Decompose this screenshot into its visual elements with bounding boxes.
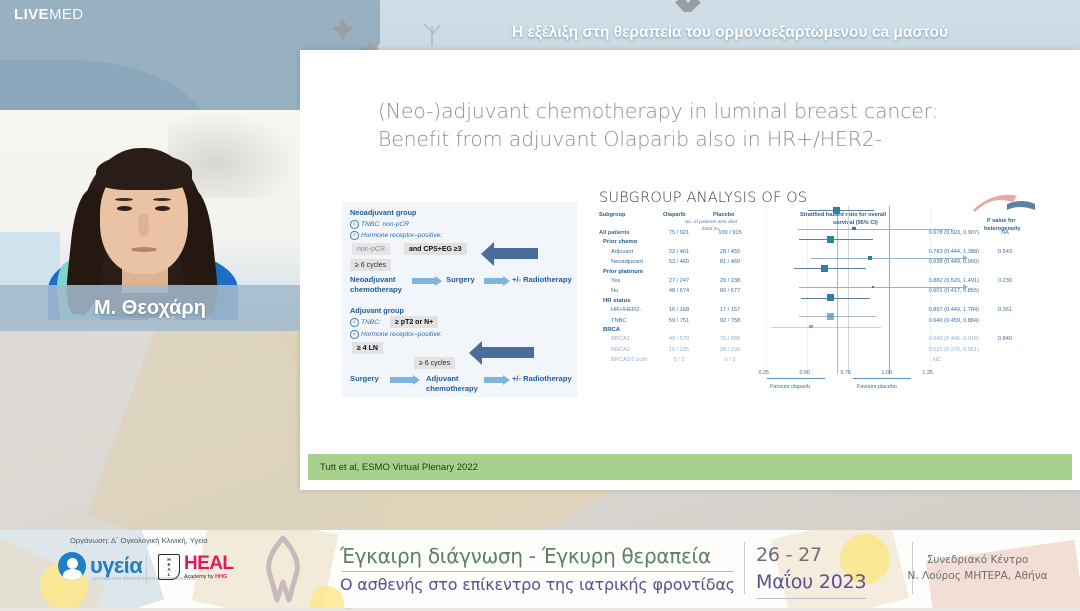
- effect-estimate-marker: [827, 294, 834, 301]
- subgroup-row-label: HR+/HER2-: [611, 307, 641, 313]
- neoadjuvant-flow-step-2: Surgery: [446, 275, 475, 285]
- placebo-count-cell: 29 / 238: [707, 278, 753, 284]
- favours-olaparib-arrow: [767, 378, 825, 379]
- logo-med-text: MED: [49, 6, 84, 23]
- emphasis-arrow-adjuvant: [482, 347, 534, 358]
- heal-tagline: Academy by HHG: [184, 574, 233, 580]
- olaparib-count-cell: 0 / 2: [657, 357, 701, 363]
- gridline: [766, 206, 767, 374]
- adjuvant-flow-step-2: Adjuvant chemotherapy: [426, 374, 478, 394]
- conference-date: 26 - 27 Μαΐου 2023: [756, 544, 866, 593]
- placebo-count-cell: 17 / 157: [707, 307, 753, 313]
- cross-circle-icon: x: [350, 231, 359, 240]
- speaker-eyebrow-right: [153, 198, 171, 201]
- placebo-count-cell: 28 / 238: [707, 347, 753, 353]
- p-value-cell: 0.361: [983, 307, 1027, 313]
- chip-4-ln: ≥ 4 LN: [352, 342, 383, 354]
- subgroup-category-label: Prior platinum: [603, 269, 643, 275]
- gridline: [889, 206, 890, 374]
- p-value-cell: 0.543: [983, 249, 1027, 255]
- cross-circle-icon: x: [350, 220, 359, 229]
- axis-tick-label: 0.75: [840, 370, 851, 376]
- heal-wordmark: HEAL: [184, 554, 233, 573]
- pooled-estimate-line: [837, 206, 838, 374]
- venue-line-2: Ν. Λούρος ΜΗΤΕΡΑ, Αθήνα: [880, 568, 1075, 584]
- subgroup-row-label: BRCA1: [611, 336, 630, 342]
- chip-pt2-or-n: ≥ pT2 or N+: [390, 316, 438, 328]
- column-header-pvalue-line-1: P value for: [987, 218, 1016, 224]
- column-header-placebo: Placebo: [713, 212, 734, 218]
- speaker-eye-left: [117, 206, 132, 211]
- column-note-line-1: No. of patients who died: [657, 220, 765, 225]
- axis-tick-label: 0.25: [758, 370, 769, 376]
- speaker-fringe: [96, 154, 192, 190]
- speaker-name-plate: Μ. Θεοχάρη: [0, 285, 300, 331]
- effect-estimate-marker: [833, 207, 840, 214]
- forest-plot-title: SUBGROUP ANALYSIS OF OS: [599, 190, 807, 206]
- speaker-name: Μ. Θεοχάρη: [94, 297, 206, 320]
- cross-circle-icon: x: [350, 318, 359, 327]
- axis-tick-label: 0.50: [799, 370, 810, 376]
- heal-shield-icon: H E A L: [158, 554, 180, 580]
- effect-estimate-marker: [827, 313, 834, 320]
- olaparib-count-cell: 22 / 461: [657, 249, 701, 255]
- adjuvant-bullet-1: xTNBC:: [350, 318, 381, 327]
- placebo-count-cell: 0 / 3: [707, 357, 753, 363]
- adjuvant-group-title: Adjuvant group: [350, 306, 404, 315]
- subgroup-category-label: BRCA: [603, 327, 620, 333]
- axis-tick-label: 1.00: [881, 370, 892, 376]
- adjuvant-flow-step-3: +/- Radiotherapy: [512, 374, 572, 384]
- treatment-flow-diagram: Neoadjuvant group xTNBC: non-pCR xHormon…: [342, 202, 577, 397]
- neoadjuvant-bullet-1-text: TNBC: non-pCR: [361, 221, 409, 228]
- conference-title-group: Έγκαιρη διάγνωση - Έγκυρη θεραπεία Ο ασθ…: [340, 544, 740, 594]
- emphasis-arrow-neoadjuvant: [494, 248, 538, 259]
- subgroup-row-label: No: [611, 288, 618, 294]
- olaparib-count-cell: 75 / 921: [657, 230, 701, 236]
- olaparib-count-cell: 59 / 751: [657, 318, 701, 324]
- chip-non-pcr: non-pCR: [352, 243, 390, 255]
- subgroup-row-label: Adjuvant: [611, 249, 633, 255]
- logo-live-text: LIVE: [14, 6, 49, 23]
- confidence-interval-line: [799, 287, 955, 288]
- organizer-label: Οργάνωση: Δ΄ Ογκολογική Κλινική, Υγεία: [70, 536, 208, 545]
- logo-divider: [146, 554, 147, 584]
- adjuvant-flow-step-1: Surgery: [350, 374, 379, 384]
- column-header-subgroup: Subgroup: [599, 212, 625, 218]
- subgroup-row-label: BRCA1/2 both: [611, 357, 647, 363]
- effect-estimate-marker: [809, 325, 812, 328]
- title-divider: [342, 571, 734, 572]
- confidence-interval-line: [794, 268, 866, 269]
- axis-label-favours-placebo: Favours placebo: [857, 384, 897, 390]
- chip-neoadjuvant-cycles: ≥ 6 cycles: [350, 259, 391, 271]
- subgroup-row-label: TNBC: [611, 318, 626, 324]
- slide-surface[interactable]: (Neo-)adjuvant chemotherapy in luminal b…: [300, 50, 1080, 490]
- conference-date-month-year: Μαΐου 2023: [756, 571, 866, 593]
- awareness-ribbon-icon: [255, 534, 311, 604]
- ci-truncation-arrow: [955, 287, 963, 288]
- conference-subtitle: Ο ασθενής στο επίκεντρο της ιατρικής φρο…: [340, 575, 740, 594]
- speaker-mouth: [131, 247, 157, 252]
- ygeia-body-shape: [63, 569, 82, 580]
- confidence-interval-line: [801, 298, 871, 299]
- conference-banner: Οργάνωση: Δ΄ Ογκολογική Κλινική, Υγεία υ…: [0, 530, 1080, 608]
- livemed-logo: LIVEMED: [14, 6, 84, 23]
- decorative-ribbon-icon: [973, 194, 1035, 216]
- banner-divider: [744, 542, 745, 594]
- favours-placebo-arrow: [853, 378, 911, 379]
- flow-arrow-neoadjuvant-2: [484, 278, 504, 284]
- adjuvant-bullet-2: xHormone receptor–positive:: [350, 330, 442, 339]
- venue-line-1: Συνεδριακό Κέντρο: [880, 552, 1075, 568]
- placebo-count-cell: 109 / 915: [707, 230, 753, 236]
- confidence-interval-line: [799, 239, 873, 240]
- neoadjuvant-flow-step-1: Neoadjuvant chemotherapy: [350, 275, 404, 295]
- gridline: [807, 206, 808, 374]
- effect-estimate-marker: [852, 227, 855, 230]
- column-header-olaparib: Olaparib: [663, 212, 686, 218]
- subgroup-row-label: BRCA2: [611, 347, 630, 353]
- flow-arrow-adjuvant-2: [484, 377, 504, 383]
- ygeia-wordmark: υγεία: [90, 555, 142, 577]
- effect-estimate-marker: [827, 236, 834, 243]
- speaker-nose: [138, 214, 149, 236]
- adjuvant-bullet-2-text: Hormone receptor–positive:: [361, 331, 442, 338]
- heal-tagline-brand: HHG: [215, 574, 227, 580]
- subgroup-row-label: All patients: [599, 230, 630, 236]
- confidence-interval-line: [771, 327, 882, 328]
- olaparib-count-cell: 48 / 674: [657, 288, 701, 294]
- confidence-interval-line: [808, 210, 874, 211]
- date-underline: [756, 598, 866, 599]
- chip-adjuvant-cycles: ≥ 6 cycles: [414, 357, 455, 369]
- ygeia-head-shape: [67, 558, 78, 569]
- speaker-eyebrow-left: [115, 198, 133, 201]
- axis-label-favours-olaparib: Favours olaparib: [770, 384, 810, 390]
- citation-text: Tutt et al, ESMO Virtual Plenary 2022: [320, 462, 478, 473]
- citation-bar: Tutt et al, ESMO Virtual Plenary 2022: [308, 454, 1072, 480]
- presentation-title: Η εξέλιξη στη θεραπεία του ορμονοεξαρτώμ…: [512, 24, 948, 42]
- subgroup-category-label: Prior chemo: [603, 239, 637, 245]
- heal-tagline-prefix: Academy by: [184, 574, 215, 580]
- olaparib-count-cell: 49 / 579: [657, 336, 701, 342]
- olaparib-count-cell: 16 / 235: [657, 347, 701, 353]
- flow-arrow-adjuvant-1: [390, 377, 414, 383]
- chip-cps-eg: and CPS+EG ≥3: [404, 243, 467, 255]
- conference-main-title: Έγκαιρη διάγνωση - Έγκυρη θεραπεία: [340, 544, 740, 568]
- gridline: [848, 206, 849, 374]
- forest-plot: SUBGROUP ANALYSIS OF OS Subgroup Olapari…: [595, 190, 1065, 410]
- ci-truncation-arrow: [955, 258, 963, 259]
- neoadjuvant-bullet-2: xHormone receptor–positive:: [350, 231, 442, 240]
- slide-title-line-1: (Neo-)adjuvant chemotherapy in luminal b…: [378, 99, 938, 123]
- placebo-count-cell: 28 / 455: [707, 249, 753, 255]
- neoadjuvant-group-title: Neoadjuvant group: [350, 208, 416, 217]
- confidence-interval-line: [798, 229, 953, 230]
- p-value-cell: NA: [983, 230, 1027, 236]
- heal-logo: H E A L HEAL Academy by HHG: [158, 554, 233, 580]
- adjuvant-bullet-1-text: TNBC:: [361, 319, 381, 326]
- cross-circle-icon: x: [350, 330, 359, 339]
- presentation-title-bar: Η εξέλιξη στη θεραπεία του ορμονοεξαρτώμ…: [380, 15, 1080, 51]
- olaparib-count-cell: 16 / 168: [657, 307, 701, 313]
- neoadjuvant-bullet-2-text: Hormone receptor–positive:: [361, 232, 442, 239]
- subgroup-row-label: Neoadjuvant: [611, 259, 643, 265]
- forest-plot-axis-area: [755, 206, 955, 374]
- placebo-count-cell: 92 / 758: [707, 318, 753, 324]
- effect-estimate-marker: [868, 256, 871, 259]
- p-value-cell: 0.239: [983, 278, 1027, 284]
- heal-letter: L: [168, 572, 171, 577]
- confidence-interval-line: [811, 258, 955, 259]
- p-value-cell: 0.840: [983, 336, 1027, 342]
- olaparib-count-cell: 53 / 460: [657, 259, 701, 265]
- gridline: [930, 206, 931, 374]
- slide-title: (Neo-)adjuvant chemotherapy in luminal b…: [378, 97, 1038, 153]
- conference-venue: Συνεδριακό Κέντρο Ν. Λούρος ΜΗΤΕΡΑ, Αθήν…: [880, 552, 1075, 584]
- banner-dot: [310, 586, 344, 608]
- placebo-count-cell: 81 / 460: [707, 259, 753, 265]
- slide-title-line-2: Benefit from adjuvant Olaparib also in H…: [378, 125, 1038, 153]
- neoadjuvant-flow-step-3: +/- Radiotherapy: [512, 275, 572, 285]
- subgroup-category-label: HR status: [603, 298, 631, 304]
- heal-wordmark-group: HEAL Academy by HHG: [184, 554, 233, 580]
- flow-arrow-neoadjuvant-1: [412, 278, 436, 284]
- olaparib-count-cell: 27 / 247: [657, 278, 701, 284]
- effect-estimate-marker: [821, 265, 828, 272]
- confidence-interval-line: [799, 316, 876, 317]
- speaker-eye-right: [155, 206, 170, 211]
- ygeia-emblem-icon: [58, 552, 86, 580]
- placebo-count-cell: 75 / 588: [707, 336, 753, 342]
- neoadjuvant-bullet-1: xTNBC: non-pCR: [350, 220, 409, 229]
- conference-date-days: 26 - 27: [756, 544, 866, 566]
- axis-tick-label: 1.25: [922, 370, 933, 376]
- placebo-count-cell: 80 / 677: [707, 288, 753, 294]
- effect-estimate-marker: [872, 286, 874, 288]
- subgroup-row-label: Yes: [611, 278, 620, 284]
